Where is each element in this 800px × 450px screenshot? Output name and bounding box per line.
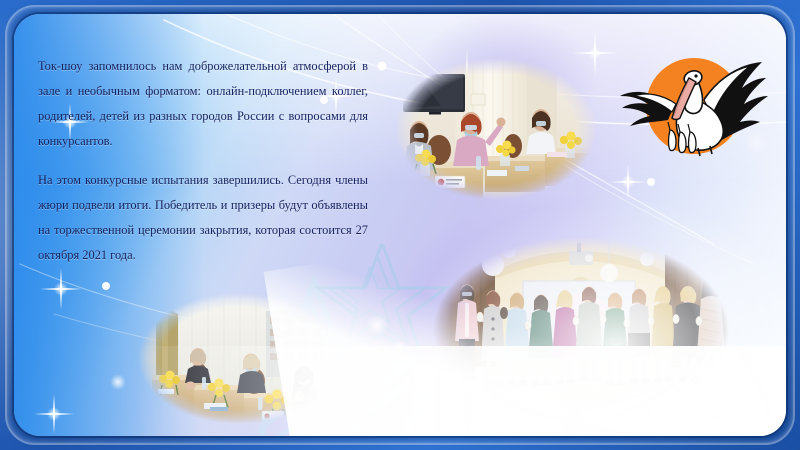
pelican-emblem	[612, 44, 772, 174]
white-bottom-fade	[134, 346, 786, 436]
bokeh-dot	[110, 374, 126, 390]
photo-jury-table	[395, 58, 597, 200]
text-column: Ток-шоу запомнилось нам доброжелательной…	[38, 54, 368, 282]
paragraph-1: Ток-шоу запомнилось нам доброжелательной…	[38, 54, 368, 154]
slide-canvas: Ток-шоу запомнилось нам доброжелательной…	[14, 14, 786, 436]
paragraph-2: На этом конкурсные испытания завершились…	[38, 168, 368, 268]
presentation-slide: Ток-шоу запомнилось нам доброжелательной…	[0, 0, 800, 450]
